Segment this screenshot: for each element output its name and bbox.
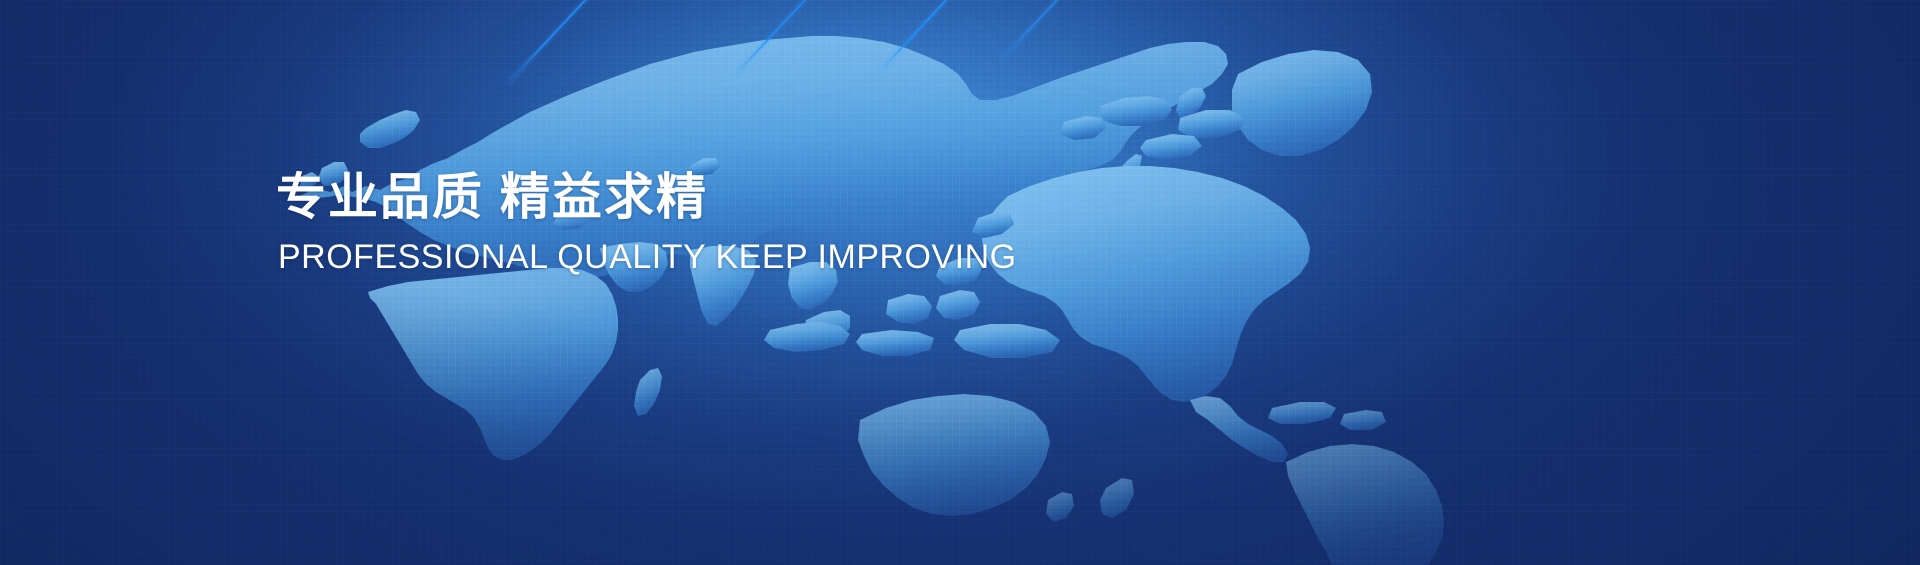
headline-english: PROFESSIONAL QUALITY KEEP IMPROVING [278,237,1017,278]
hero-banner: 专业品质 精益求精 PROFESSIONAL QUALITY KEEP IMPR… [0,0,1920,565]
headline-block: 专业品质 精益求精 PROFESSIONAL QUALITY KEEP IMPR… [276,168,1017,278]
background-grid-overlay [0,0,1920,565]
headline-chinese: 专业品质 精益求精 [276,168,1017,227]
